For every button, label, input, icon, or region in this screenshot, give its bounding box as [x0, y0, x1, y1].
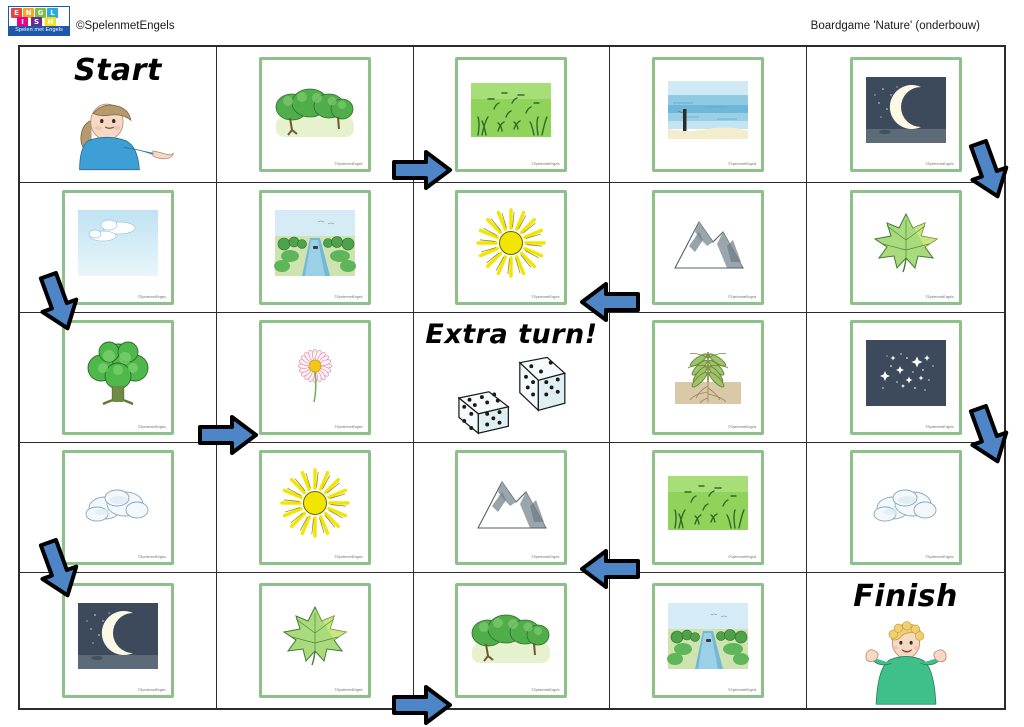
- card-cloud-2[interactable]: ©SpelenmetEngels: [807, 443, 1004, 573]
- card-moon[interactable]: ©SpelenmetEngels: [807, 47, 1004, 183]
- card-credit: ©SpelenmetEngels: [335, 555, 363, 559]
- picture-card[interactable]: ©SpelenmetEngels: [850, 320, 962, 435]
- card-mountain[interactable]: ©SpelenmetEngels: [610, 183, 807, 313]
- card-sun[interactable]: ©SpelenmetEngels: [414, 183, 611, 313]
- special-cell-content: Start: [20, 47, 216, 182]
- picture-card[interactable]: ©SpelenmetEngels: [455, 57, 567, 172]
- card-flower[interactable]: ©SpelenmetEngels: [217, 313, 414, 443]
- card-credit: ©SpelenmetEngels: [728, 425, 756, 429]
- picture-card[interactable]: ©SpelenmetEngels: [850, 450, 962, 565]
- picture-card[interactable]: ©SpelenmetEngels: [652, 583, 764, 698]
- card-bushes-2[interactable]: ©SpelenmetEngels: [414, 573, 611, 708]
- grass-icon: [468, 73, 554, 147]
- bushes-icon: [468, 599, 554, 673]
- leaf-icon: [863, 206, 949, 280]
- stars-icon: [863, 336, 949, 410]
- picture-card[interactable]: ©SpelenmetEngels: [652, 320, 764, 435]
- card-credit: ©SpelenmetEngels: [335, 295, 363, 299]
- card-cloud[interactable]: ©SpelenmetEngels: [20, 443, 217, 573]
- sun-icon: [468, 206, 554, 280]
- card-credit: ©SpelenmetEngels: [138, 425, 166, 429]
- river-icon: [272, 206, 358, 280]
- card-plant[interactable]: ©SpelenmetEngels: [610, 313, 807, 443]
- card-credit: ©SpelenmetEngels: [531, 688, 559, 692]
- card-grass[interactable]: ©SpelenmetEngels: [414, 47, 611, 183]
- card-credit: ©SpelenmetEngels: [138, 295, 166, 299]
- card-credit: ©SpelenmetEngels: [925, 555, 953, 559]
- grass-icon: [665, 466, 751, 540]
- logo-tagline: Spelen met Engels: [9, 26, 69, 35]
- leaf-icon: [272, 599, 358, 673]
- card-credit: ©SpelenmetEngels: [925, 295, 953, 299]
- logo-letter-blocks: ENGLISH: [9, 7, 69, 27]
- girl-pointing-icon: [54, 90, 182, 182]
- cloud-icon: [75, 466, 161, 540]
- picture-card[interactable]: ©SpelenmetEngels: [62, 190, 174, 305]
- tree-icon: [75, 336, 161, 410]
- card-credit: ©SpelenmetEngels: [728, 295, 756, 299]
- picture-card[interactable]: ©SpelenmetEngels: [259, 57, 371, 172]
- extra-turn-cell[interactable]: Extra turn!: [414, 313, 611, 443]
- mountain-icon: [665, 206, 751, 280]
- finish-cell[interactable]: Finish: [807, 573, 1004, 708]
- bushes-icon: [272, 73, 358, 147]
- sun-icon: [272, 466, 358, 540]
- card-credit: ©SpelenmetEngels: [531, 295, 559, 299]
- card-sun-2[interactable]: ©SpelenmetEngels: [217, 443, 414, 573]
- moon-icon: [75, 599, 161, 673]
- card-credit: ©SpelenmetEngels: [335, 425, 363, 429]
- picture-card[interactable]: ©SpelenmetEngels: [652, 190, 764, 305]
- flower-icon: [272, 336, 358, 410]
- cloud-icon: [863, 466, 949, 540]
- card-bushes[interactable]: ©SpelenmetEngels: [217, 47, 414, 183]
- picture-card[interactable]: ©SpelenmetEngels: [62, 450, 174, 565]
- start-cell[interactable]: Start: [20, 47, 217, 183]
- card-credit: ©SpelenmetEngels: [531, 162, 559, 166]
- card-mountain-2[interactable]: ©SpelenmetEngels: [414, 443, 611, 573]
- special-cell-content: Extra turn!: [414, 313, 610, 442]
- card-credit: ©SpelenmetEngels: [138, 688, 166, 692]
- river-icon: [665, 599, 751, 673]
- moon-icon: [863, 73, 949, 147]
- card-river[interactable]: ©SpelenmetEngels: [217, 183, 414, 313]
- dice-icon: [436, 352, 586, 436]
- card-credit: ©SpelenmetEngels: [728, 162, 756, 166]
- sea-icon: [665, 73, 751, 147]
- picture-card[interactable]: ©SpelenmetEngels: [259, 583, 371, 698]
- card-sea[interactable]: ©SpelenmetEngels: [610, 47, 807, 183]
- girl-cheering-icon: [842, 616, 970, 708]
- picture-card[interactable]: ©SpelenmetEngels: [455, 583, 567, 698]
- plant-icon: [665, 336, 751, 410]
- picture-card[interactable]: ©SpelenmetEngels: [455, 190, 567, 305]
- sky-icon: [75, 206, 161, 280]
- picture-card[interactable]: ©SpelenmetEngels: [62, 583, 174, 698]
- card-credit: ©SpelenmetEngels: [531, 555, 559, 559]
- picture-card[interactable]: ©SpelenmetEngels: [259, 190, 371, 305]
- picture-card[interactable]: ©SpelenmetEngels: [455, 450, 567, 565]
- card-credit: ©SpelenmetEngels: [925, 162, 953, 166]
- card-tree[interactable]: ©SpelenmetEngels: [20, 313, 217, 443]
- spelen-met-engels-logo: ENGLISH Spelen met Engels: [8, 6, 70, 36]
- card-credit: ©SpelenmetEngels: [925, 425, 953, 429]
- picture-card[interactable]: ©SpelenmetEngels: [62, 320, 174, 435]
- card-stars[interactable]: ©SpelenmetEngels: [807, 313, 1004, 443]
- page-header: ENGLISH Spelen met Engels ©SpelenmetEnge…: [0, 0, 1024, 44]
- header-title: Boardgame 'Nature' (onderbouw): [811, 20, 980, 32]
- card-leaf-2[interactable]: ©SpelenmetEngels: [217, 573, 414, 708]
- picture-card[interactable]: ©SpelenmetEngels: [652, 57, 764, 172]
- picture-card[interactable]: ©SpelenmetEngels: [259, 450, 371, 565]
- header-copyright: ©SpelenmetEngels: [76, 20, 175, 32]
- start-label: Start: [74, 53, 162, 88]
- picture-card[interactable]: ©SpelenmetEngels: [850, 57, 962, 172]
- boardgame-grid: Start ©SpelenmetEngels ©SpelenmetEngels: [18, 45, 1006, 710]
- card-credit: ©SpelenmetEngels: [335, 688, 363, 692]
- card-credit: ©SpelenmetEngels: [138, 555, 166, 559]
- card-grass-2[interactable]: ©SpelenmetEngels: [610, 443, 807, 573]
- card-moon-2[interactable]: ©SpelenmetEngels: [20, 573, 217, 708]
- card-credit: ©SpelenmetEngels: [728, 688, 756, 692]
- special-cell-content: Finish: [807, 573, 1004, 708]
- finish-label: Finish: [853, 579, 958, 614]
- card-credit: ©SpelenmetEngels: [728, 555, 756, 559]
- mountain-icon: [468, 466, 554, 540]
- card-sky[interactable]: ©SpelenmetEngels: [20, 183, 217, 313]
- picture-card[interactable]: ©SpelenmetEngels: [259, 320, 371, 435]
- extra-turn-label: Extra turn!: [425, 319, 597, 350]
- card-leaf[interactable]: ©SpelenmetEngels: [807, 183, 1004, 313]
- card-river-2[interactable]: ©SpelenmetEngels: [610, 573, 807, 708]
- picture-card[interactable]: ©SpelenmetEngels: [652, 450, 764, 565]
- card-credit: ©SpelenmetEngels: [335, 162, 363, 166]
- picture-card[interactable]: ©SpelenmetEngels: [850, 190, 962, 305]
